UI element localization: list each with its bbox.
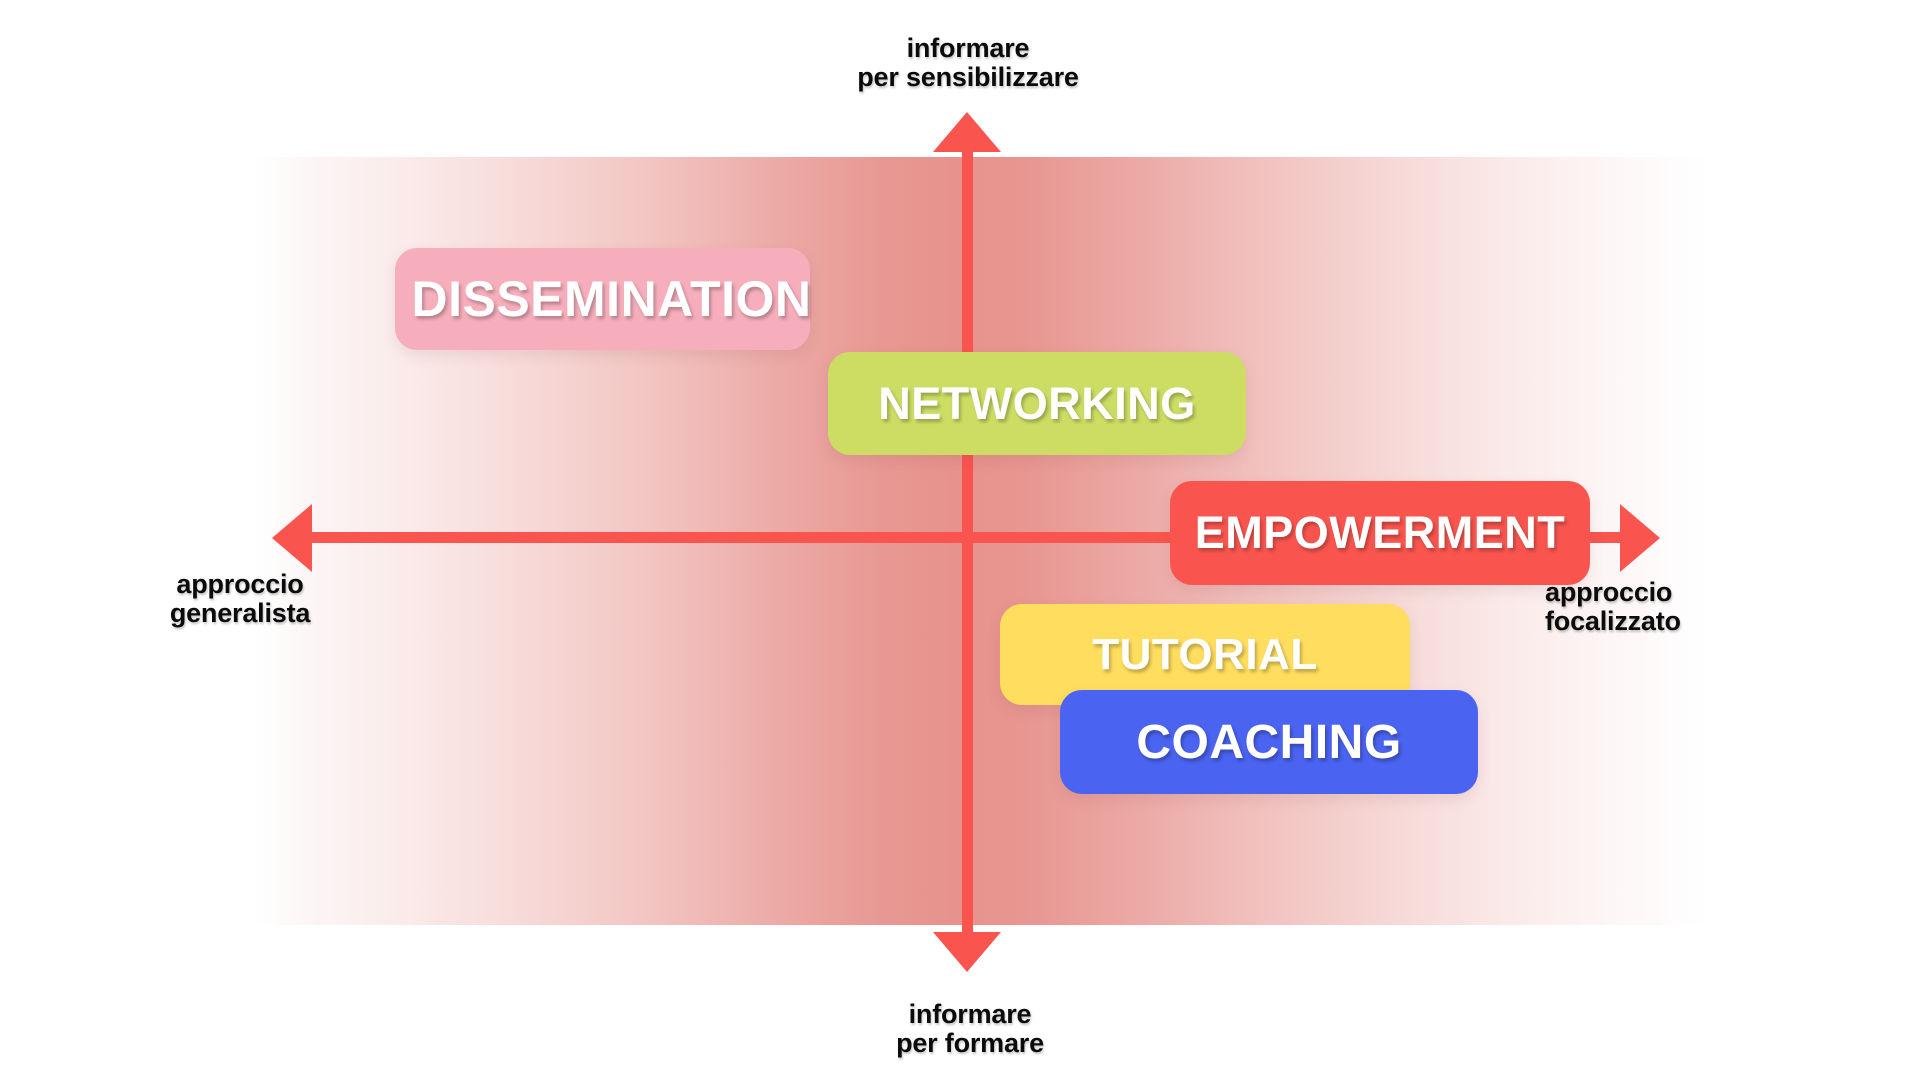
arrow-right-icon <box>1620 504 1660 572</box>
concept-label-coaching: COACHING <box>1136 715 1401 770</box>
arrow-down-icon <box>933 932 1001 972</box>
concept-box-coaching[interactable]: COACHING <box>1060 690 1478 794</box>
axis-label-bottom: informare per formare <box>820 1000 1120 1058</box>
arrow-up-icon <box>933 112 1001 152</box>
concept-box-empowerment[interactable]: EMPOWERMENT <box>1170 481 1590 585</box>
concept-label-networking: NETWORKING <box>878 378 1195 430</box>
arrow-left-icon <box>272 504 312 572</box>
axis-label-right: approccio focalizzato <box>1545 578 1845 636</box>
concept-label-tutorial: TUTORIAL <box>1092 630 1318 680</box>
vertical-axis-line <box>962 126 973 958</box>
concept-label-dissemination: DISSEMINATION <box>411 270 811 328</box>
concept-box-networking[interactable]: NETWORKING <box>828 352 1246 455</box>
axis-label-left: approccio generalista <box>90 570 390 628</box>
axis-label-top: informare per sensibilizzare <box>818 34 1118 92</box>
diagram-canvas: informare per sensibilizzare informare p… <box>0 0 1920 1080</box>
concept-box-dissemination[interactable]: DISSEMINATION <box>395 248 810 350</box>
concept-label-empowerment: EMPOWERMENT <box>1195 507 1566 559</box>
